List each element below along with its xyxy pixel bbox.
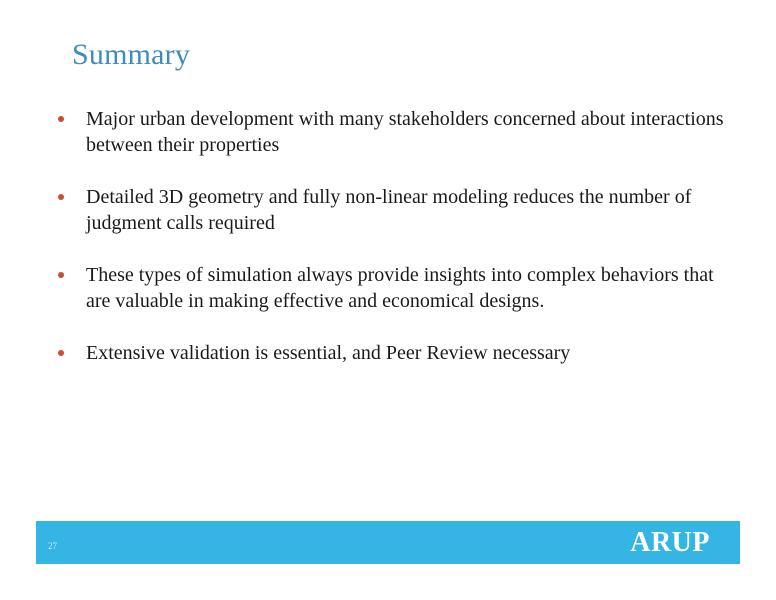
- brand-logo: ARUP: [630, 527, 710, 559]
- bullet-dot-icon: [58, 194, 64, 200]
- page-title: Summary: [72, 36, 190, 74]
- bullet-dot-icon: [58, 116, 64, 122]
- list-item-text: Extensive validation is essential, and P…: [86, 341, 742, 367]
- list-item: Major urban development with many stakeh…: [52, 107, 742, 158]
- list-item-text: These types of simulation always provide…: [86, 263, 742, 314]
- list-item: These types of simulation always provide…: [52, 263, 742, 314]
- bullet-list: Major urban development with many stakeh…: [52, 107, 742, 367]
- slide-footer-bar: 27 ARUP: [36, 521, 740, 564]
- list-item-text: Major urban development with many stakeh…: [86, 107, 742, 158]
- page-number: 27: [48, 541, 57, 551]
- bullet-dot-icon: [58, 272, 64, 278]
- bullet-dot-icon: [58, 350, 64, 356]
- list-item-text: Detailed 3D geometry and fully non-linea…: [86, 185, 742, 236]
- list-item: Extensive validation is essential, and P…: [52, 341, 742, 367]
- list-item: Detailed 3D geometry and fully non-linea…: [52, 185, 742, 236]
- presentation-slide: Summary Major urban development with man…: [0, 0, 776, 600]
